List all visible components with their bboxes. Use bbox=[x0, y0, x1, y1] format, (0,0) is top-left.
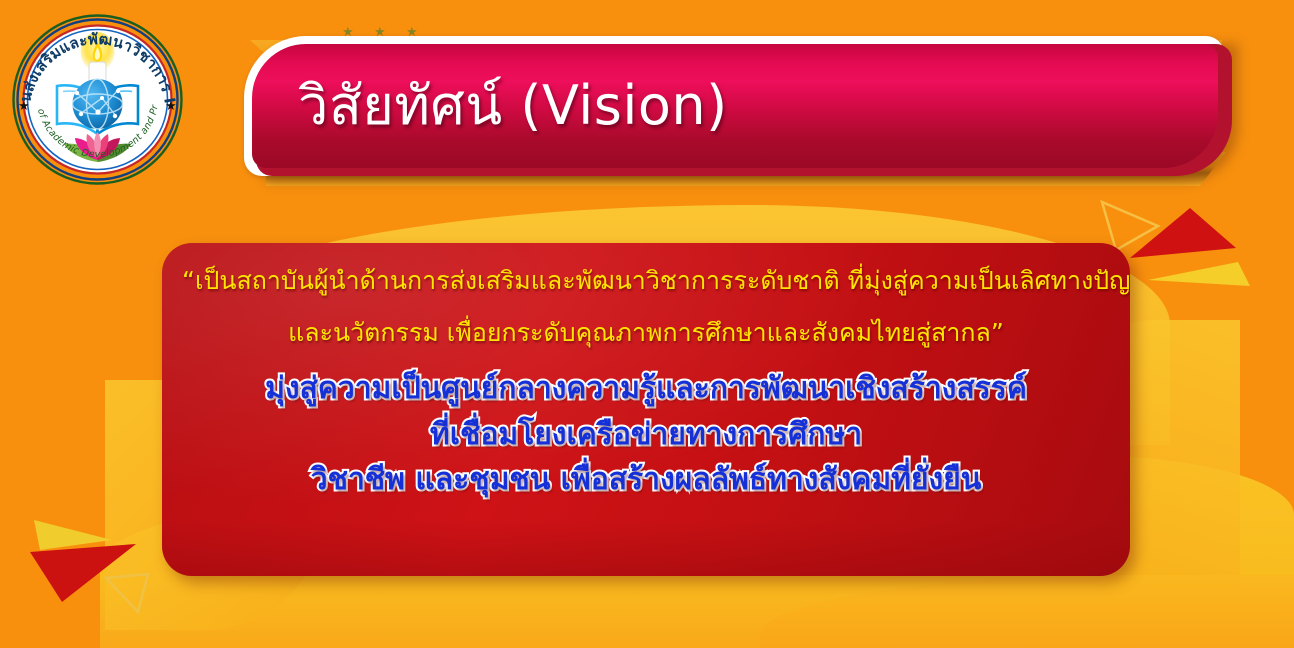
vision-slide: ★ ★ ★ ★ ★ ★ bbox=[0, 0, 1294, 648]
triangle-filled-yellow-icon bbox=[34, 520, 112, 550]
vision-quote-line-2: และนวัตกรรม เพื่อยกระดับคุณภาพการศึกษาแล… bbox=[182, 319, 1110, 347]
iadp-seal-logo: ★ ★ สถาบันส่งเสริมและพัฒนาวิชาการ IADP I… bbox=[10, 12, 185, 187]
triangle-filled-yellow-icon bbox=[1148, 262, 1250, 286]
vision-highlight-line-2: ที่เชื่อมโยงเครือข่ายทางการศึกษา bbox=[182, 418, 1110, 452]
page-title: วิสัยทัศน์ (Vision) bbox=[298, 78, 728, 135]
banner-face: วิสัยทัศน์ (Vision) bbox=[252, 44, 1218, 168]
vision-content-card: “เป็นสถาบันผู้นำด้านการส่งเสริมและพัฒนาว… bbox=[162, 243, 1130, 576]
vision-quote-line-1: “เป็นสถาบันผู้นำด้านการส่งเสริมและพัฒนาว… bbox=[182, 267, 1110, 295]
vision-highlight-line-3: วิชาชีพ และชุมชน เพื่อสร้างผลลัพธ์ทางสัง… bbox=[182, 463, 1110, 497]
vision-highlight-line-1: มุ่งสู่ความเป็นศูนย์กลางความรู้และการพัฒ… bbox=[182, 372, 1110, 406]
title-banner: วิสัยทัศน์ (Vision) bbox=[232, 22, 1242, 187]
triangle-outline-yellow-icon bbox=[106, 574, 148, 612]
globe-network-icon bbox=[73, 79, 123, 129]
